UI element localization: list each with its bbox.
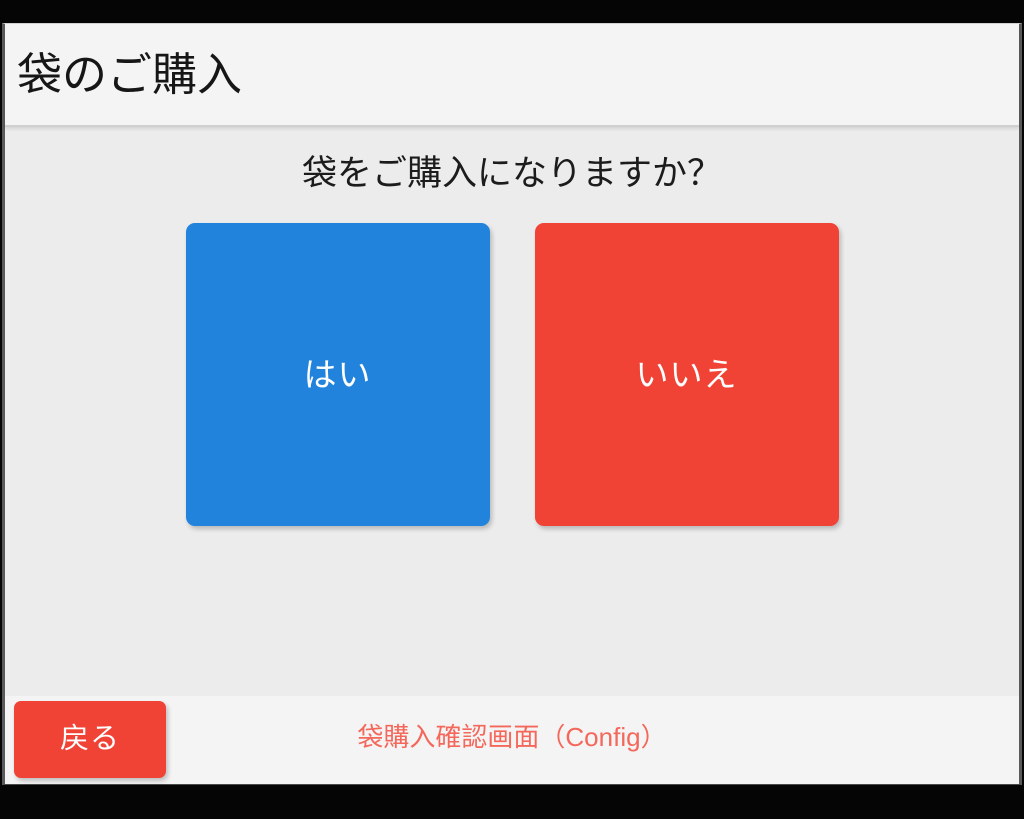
yes-button[interactable]: はい — [186, 223, 490, 526]
page-title: 袋のご購入 — [5, 52, 242, 97]
main-content: 袋をご購入になりますか？ はい いいえ — [5, 127, 1019, 696]
app-header: 袋のご購入 — [5, 24, 1019, 127]
app-window: 袋のご購入 袋をご購入になりますか？ はい いいえ 戻る 袋購入確認画面（Con… — [2, 23, 1022, 785]
choice-button-group: はい いいえ — [186, 223, 839, 526]
no-button[interactable]: いいえ — [535, 223, 839, 526]
app-footer: 戻る 袋購入確認画面（Config） — [5, 696, 1019, 784]
device-bezel: 袋のご購入 袋をご購入になりますか？ はい いいえ 戻る 袋購入確認画面（Con… — [0, 0, 1024, 819]
confirmation-question: 袋をご購入になりますか？ — [302, 127, 722, 195]
back-button[interactable]: 戻る — [14, 701, 166, 778]
